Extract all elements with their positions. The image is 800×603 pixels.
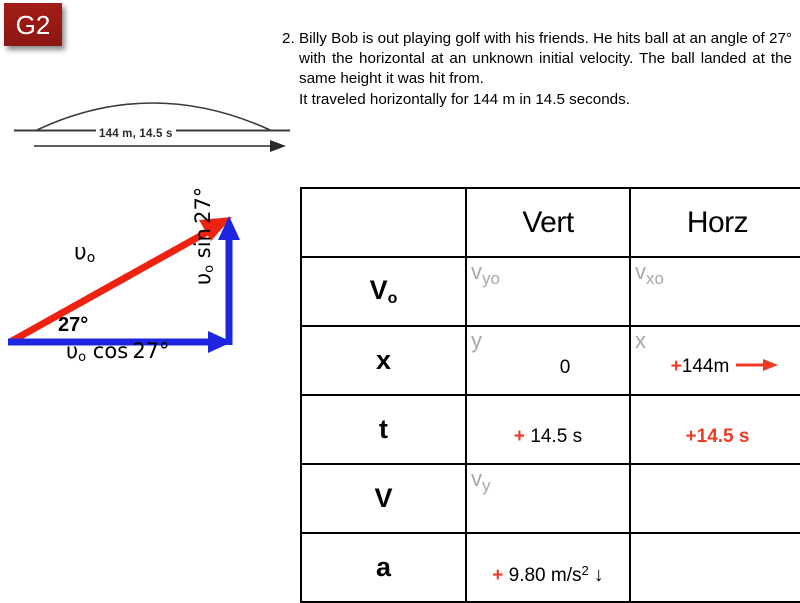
slide-badge-label: G2 xyxy=(16,12,51,38)
cell-displacement-horz-number: 144m xyxy=(682,357,730,378)
trajectory-svg xyxy=(12,88,292,160)
table-header-corner xyxy=(301,188,466,257)
cell-time-horz[interactable]: +14.5 s xyxy=(630,395,800,464)
cell-acceleration-vert-exponent: 2 xyxy=(582,563,589,578)
table-row-velocity: V vy xyxy=(301,464,800,533)
vector-label-vertical-component: υo sin 27° xyxy=(191,187,217,285)
range-arrowhead-icon xyxy=(270,140,286,152)
sign-plus-time-horz: + xyxy=(686,426,697,447)
cell-time-horz-number: 14.5 s xyxy=(697,426,750,447)
row-label-time: t xyxy=(301,395,466,464)
table-header-vert: Vert xyxy=(466,188,630,257)
row-label-v-initial-text: Vo xyxy=(302,275,465,308)
cell-velocity-horz-shaded xyxy=(630,464,800,533)
cell-acceleration-vert-number: 9.80 m/s xyxy=(509,565,582,586)
cell-time-vert[interactable]: + 14.5 s xyxy=(466,395,630,464)
vector-label-angle: 27° xyxy=(58,314,88,337)
cell-time-vert-value: + 14.5 s xyxy=(467,426,629,448)
direction-arrow-right-icon xyxy=(736,356,778,378)
sign-plus-displacement-horz: + xyxy=(671,357,682,378)
table-row-v-initial: Vo vyo vxo xyxy=(301,257,800,326)
kinematics-table: Vert Horz Vo vyo vxo x y 0 x +144m xyxy=(300,187,800,603)
table-row-acceleration: a + 9.80 m/s2↓ xyxy=(301,533,800,602)
table-row-displacement: x y 0 x +144m xyxy=(301,326,800,395)
sign-plus-time-vert: + xyxy=(514,426,525,447)
row-label-acceleration: a xyxy=(301,533,466,602)
table-header-horz-label: Horz xyxy=(631,206,800,240)
cell-displacement-horz-value: +144m xyxy=(631,356,800,378)
row-label-displacement: x xyxy=(301,326,466,395)
cell-time-horz-value: +14.5 s xyxy=(631,426,800,448)
cell-acceleration-vert[interactable]: + 9.80 m/s2↓ xyxy=(466,533,630,602)
cell-velocity-vert[interactable]: vy xyxy=(466,464,630,533)
projectile-arc-path xyxy=(37,103,270,130)
vector-label-v-initial: υo xyxy=(74,240,95,266)
ghost-label-x: x xyxy=(635,329,646,352)
row-label-displacement-text: x xyxy=(302,345,465,376)
problem-line-1: Billy Bob is out playing golf with his f… xyxy=(299,30,685,47)
problem-statement: 2. Billy Bob is out playing golf with hi… xyxy=(282,29,792,110)
resultant-vector-line xyxy=(10,226,218,342)
cell-v-initial-vert[interactable]: vyo xyxy=(466,257,630,326)
ghost-label-y: y xyxy=(471,329,482,352)
table-header-vert-label: Vert xyxy=(467,206,629,240)
problem-text: Billy Bob is out playing golf with his f… xyxy=(299,29,792,110)
ghost-label-vy: vy xyxy=(471,467,491,495)
trajectory-range-label: 144 m, 14.5 s xyxy=(96,128,176,140)
cell-displacement-vert-value: 0 xyxy=(467,357,629,379)
cell-v-initial-horz[interactable]: vxo xyxy=(630,257,800,326)
ghost-label-vxo: vxo xyxy=(635,260,664,288)
trajectory-figure: 144 m, 14.5 s xyxy=(12,88,292,160)
direction-arrow-down-icon: ↓ xyxy=(589,564,604,586)
table-row-time: t + 14.5 s +14.5 s xyxy=(301,395,800,464)
row-label-velocity: V xyxy=(301,464,466,533)
table-header-row: Vert Horz xyxy=(301,188,800,257)
cell-acceleration-vert-value: + 9.80 m/s2↓ xyxy=(467,563,629,587)
cell-time-vert-number: 14.5 s xyxy=(530,426,582,447)
table-header-horz: Horz xyxy=(630,188,800,257)
slide-badge-g2: G2 xyxy=(4,3,62,46)
cell-acceleration-horz-shaded xyxy=(630,533,800,602)
row-label-time-text: t xyxy=(302,414,465,445)
problem-line-4: It traveled horizontally for 144 m in 14… xyxy=(299,90,792,110)
cell-displacement-vert[interactable]: y 0 xyxy=(466,326,630,395)
ghost-label-vyo: vyo xyxy=(471,260,500,288)
row-label-velocity-text: V xyxy=(302,483,465,514)
cell-displacement-horz[interactable]: x +144m xyxy=(630,326,800,395)
row-label-v-initial: Vo xyxy=(301,257,466,326)
problem-number: 2. xyxy=(282,29,299,49)
row-label-acceleration-text: a xyxy=(302,552,465,583)
sign-plus-acceleration-vert: + xyxy=(492,565,503,586)
vector-label-horizontal-component: υo cos 27° xyxy=(66,339,170,365)
